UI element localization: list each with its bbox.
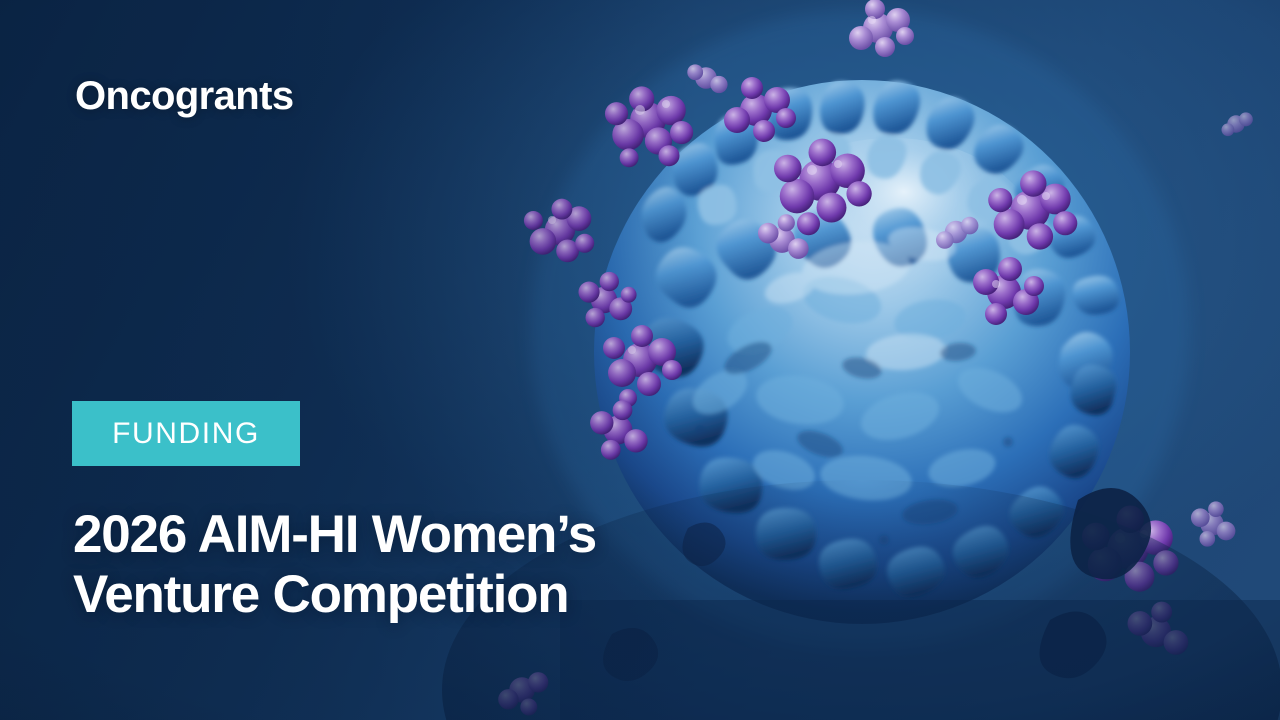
page-title-line-2: Venture Competition (73, 565, 773, 625)
page-title: 2026 AIM-HI Women’s Venture Competition (73, 505, 773, 625)
slide-copy: Oncogrants FUNDING 2026 AIM-HI Women’s V… (0, 0, 760, 720)
brand-logo-text[interactable]: Oncogrants (75, 76, 293, 116)
slide-canvas: Oncogrants FUNDING 2026 AIM-HI Women’s V… (0, 0, 1280, 720)
page-title-line-1: 2026 AIM-HI Women’s (73, 505, 773, 565)
category-badge[interactable]: FUNDING (72, 401, 300, 466)
category-badge-label: FUNDING (112, 419, 260, 449)
